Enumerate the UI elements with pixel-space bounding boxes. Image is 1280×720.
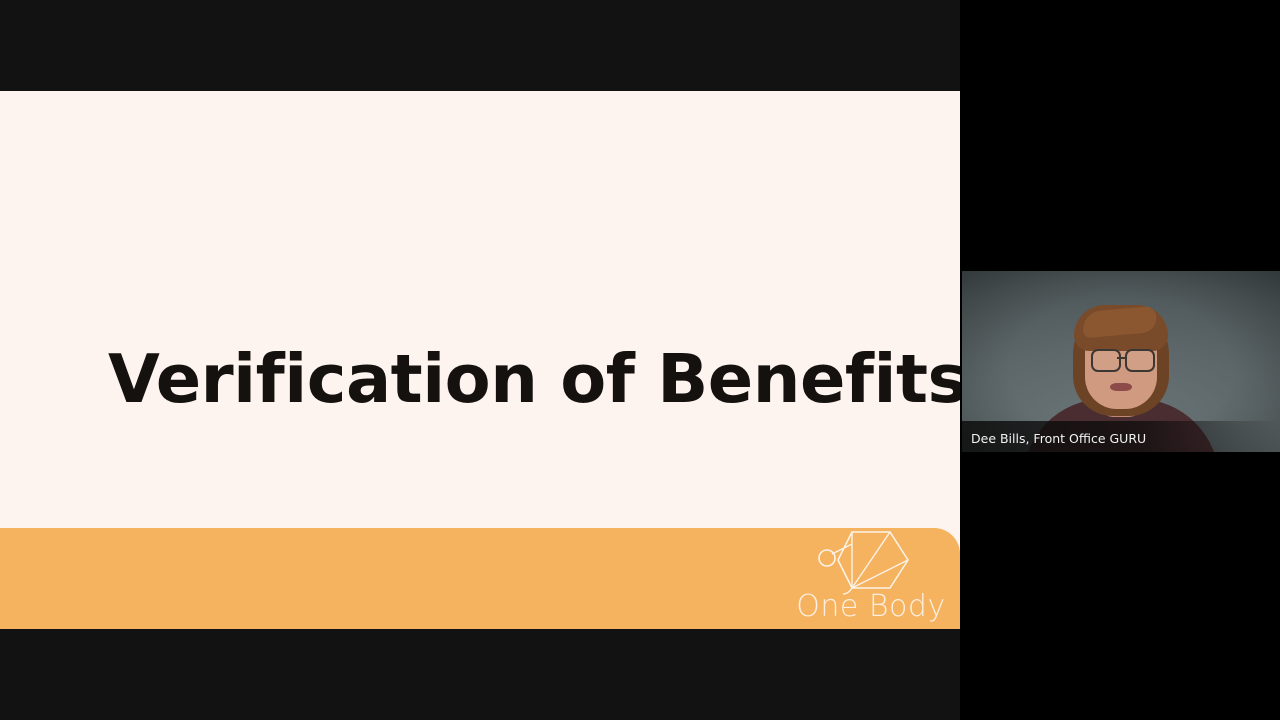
presentation-slide: Verification of Benefits [0, 91, 960, 629]
participant-name-label: Dee Bills, Front Office GURU [971, 431, 1146, 446]
participant-name-bar: Dee Bills, Front Office GURU [962, 421, 1280, 452]
participant-rail: Dee Bills, Front Office GURU [960, 0, 1280, 720]
one-body-hexagon-logo-icon [816, 524, 912, 596]
one-body-logo-lockup: One Body [788, 528, 948, 629]
slide-brand-band: One Body [0, 528, 960, 629]
one-body-wordmark: One Body [796, 590, 946, 624]
shared-screen-region[interactable]: Verification of Benefits [0, 0, 960, 720]
slide-title: Verification of Benefits [108, 340, 868, 418]
participant-video-tile[interactable]: Dee Bills, Front Office GURU [962, 271, 1280, 452]
video-call-screen: Verification of Benefits [0, 0, 1280, 720]
